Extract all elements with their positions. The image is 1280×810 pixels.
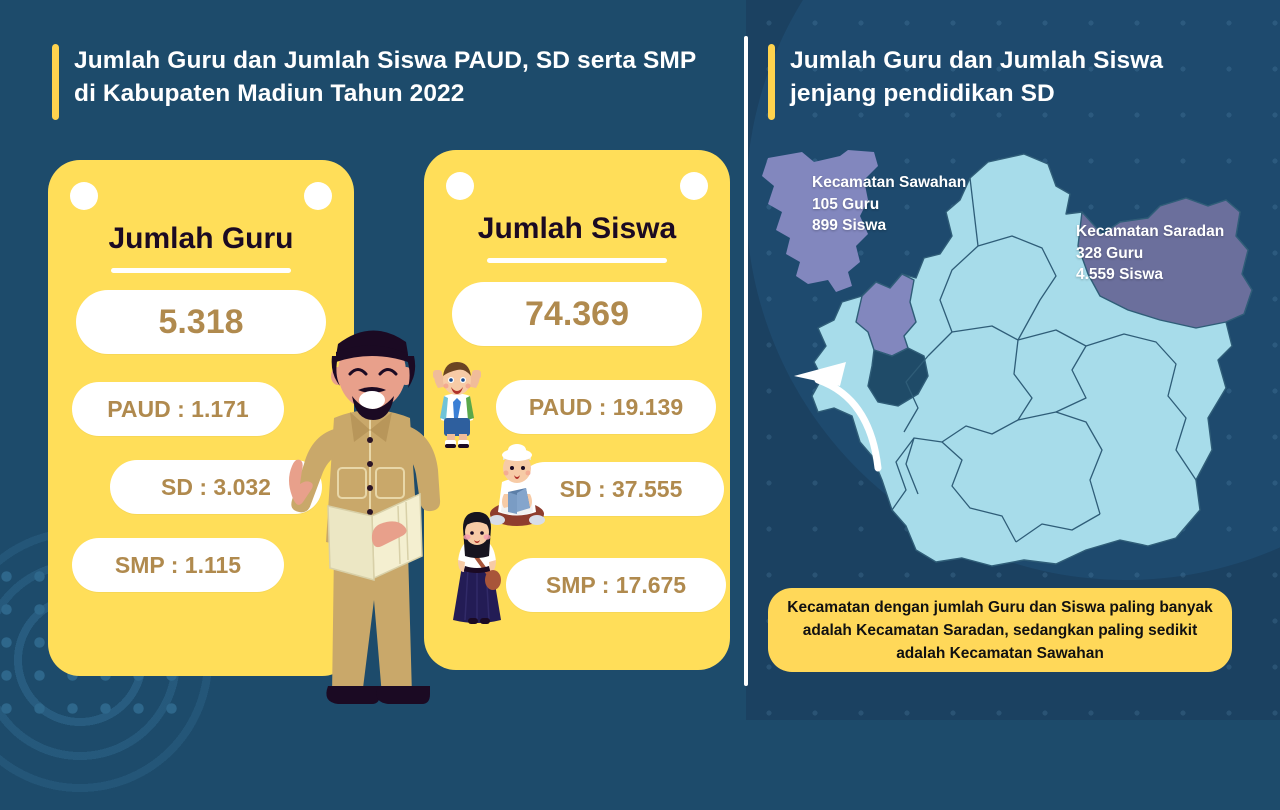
- map-label-sawahan-siswa: 899 Siswa: [812, 215, 1022, 237]
- siswa-paud-value: PAUD : 19.139: [496, 380, 716, 434]
- siswa-smp-value: SMP : 17.675: [506, 558, 726, 612]
- punch-hole-icon: [680, 172, 708, 200]
- total-siswa-value: 74.369: [452, 282, 702, 346]
- summary-note-text: Kecamatan dengan jumlah Guru dan Siswa p…: [768, 596, 1232, 665]
- card-title-siswa: Jumlah Siswa: [424, 212, 730, 246]
- left-section-header: Jumlah Guru dan Jumlah Siswa PAUD, SD se…: [52, 44, 712, 120]
- map-label-saradan-name: Kecamatan Saradan: [1076, 221, 1276, 243]
- student-paud-illustration: [424, 356, 490, 452]
- student-smp-illustration: [446, 504, 508, 626]
- left-title: Jumlah Guru dan Jumlah Siswa PAUD, SD se…: [74, 44, 712, 110]
- map-label-saradan: Kecamatan Saradan 328 Guru 4.559 Siswa: [1076, 221, 1276, 286]
- punch-hole-icon: [70, 182, 98, 210]
- map-label-sawahan-name: Kecamatan Sawahan: [812, 172, 1022, 194]
- accent-bar: [768, 44, 775, 120]
- guru-smp-value: SMP : 1.115: [72, 538, 284, 592]
- title-underline: [487, 258, 667, 263]
- siswa-sd-value: SD : 37.555: [518, 462, 724, 516]
- map-label-sawahan-guru: 105 Guru: [812, 194, 1022, 216]
- map-label-saradan-siswa: 4.559 Siswa: [1076, 264, 1276, 286]
- right-title: Jumlah Guru dan Jumlah Siswa jenjang pen…: [790, 44, 1238, 110]
- map-label-saradan-guru: 328 Guru: [1076, 243, 1276, 265]
- punch-hole-icon: [446, 172, 474, 200]
- right-section-header: Jumlah Guru dan Jumlah Siswa jenjang pen…: [768, 44, 1238, 120]
- title-underline: [111, 268, 291, 273]
- map-label-sawahan: Kecamatan Sawahan 105 Guru 899 Siswa: [812, 172, 1022, 237]
- card-title-guru: Jumlah Guru: [48, 222, 354, 256]
- summary-note-box: Kecamatan dengan jumlah Guru dan Siswa p…: [768, 588, 1232, 672]
- accent-bar: [52, 44, 59, 120]
- punch-hole-icon: [304, 182, 332, 210]
- guru-paud-value: PAUD : 1.171: [72, 382, 284, 436]
- vertical-divider: [744, 36, 748, 686]
